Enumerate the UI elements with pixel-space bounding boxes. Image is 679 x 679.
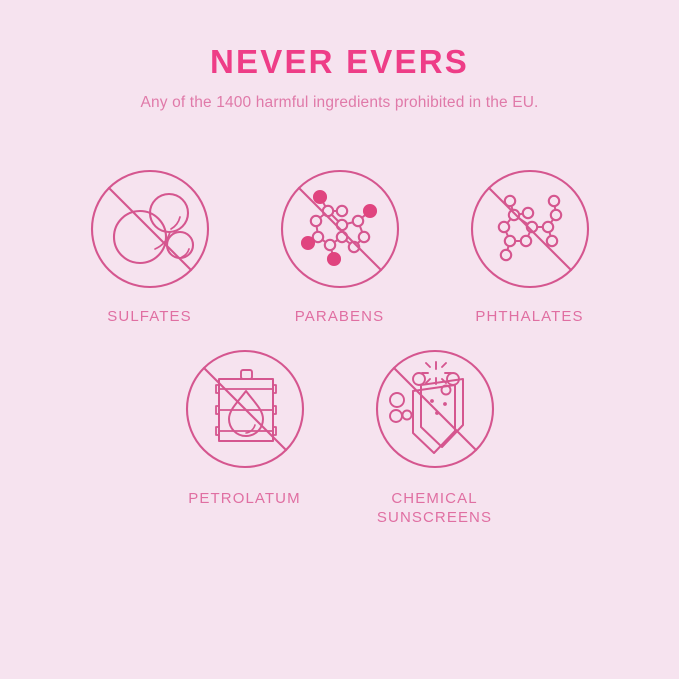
no-chemical-sunscreens-shield-icon [375,349,495,469]
never-evers-poster: NEVER EVERS Any of the 1400 harmful ingr… [0,0,679,679]
ingredient-row: SULFATES [0,169,679,327]
ingredient-row: PETROLATUM [0,349,679,529]
no-petrolatum-oil-drum-icon [185,349,305,469]
ingredient-label: PETROLATUM [188,489,300,509]
ingredient-item-parabens: PARABENS [245,169,435,327]
ingredient-label: SULFATES [107,307,191,327]
ingredient-item-sulfates: SULFATES [55,169,245,327]
ingredient-label: CHEMICAL SUNSCREENS [377,489,492,529]
page-subtitle: Any of the 1400 harmful ingredients proh… [0,94,679,113]
no-phthalates-molecule-icon [470,169,590,289]
ingredient-grid: SULFATES [0,169,679,528]
ingredient-item-phthalates: PHTHALATES [435,169,625,327]
no-parabens-molecule-icon [280,169,400,289]
ingredient-label: PHTHALATES [475,307,583,327]
ingredient-item-petrolatum: PETROLATUM [150,349,340,509]
no-sulfates-bubbles-icon [90,169,210,289]
poster-header: NEVER EVERS Any of the 1400 harmful ingr… [0,0,679,113]
page-title: NEVER EVERS [0,44,679,80]
ingredient-label: PARABENS [295,307,384,327]
ingredient-item-chemical-sunscreens: CHEMICAL SUNSCREENS [340,349,530,529]
